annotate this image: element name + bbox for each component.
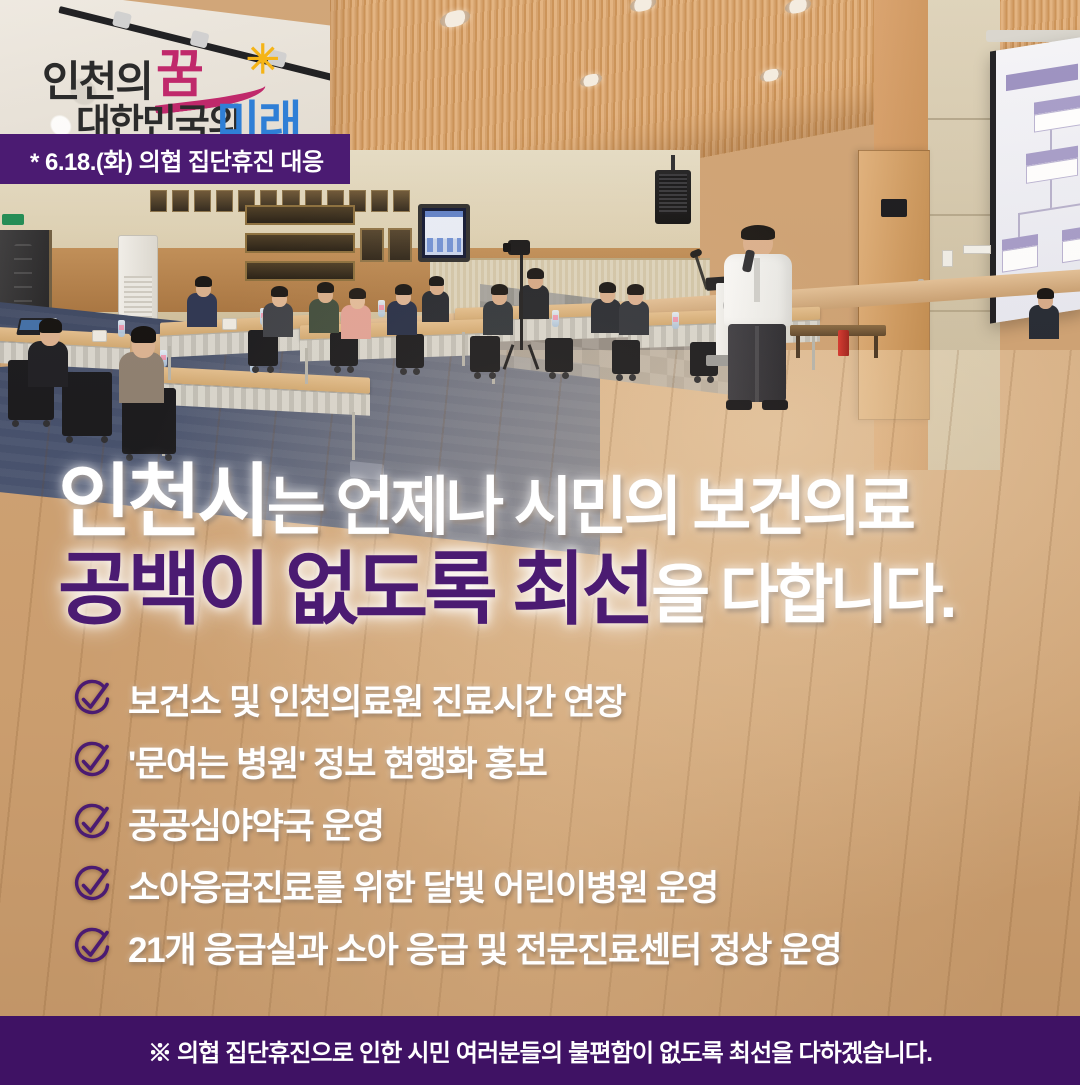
headline-subject: 인천시: [58, 457, 267, 546]
list-item-label: '문여는 병원' 정보 현행화 홍보: [128, 736, 547, 787]
slide-connector: [1050, 130, 1052, 150]
presenter-hair: [741, 225, 775, 240]
incheon-slogan-logo: 인천의 꿈 ✳ 대한민국의 미래: [34, 34, 314, 126]
ceiling-downlight: [630, 0, 656, 14]
wall-nameplate: [963, 245, 991, 254]
office-chair: [396, 334, 424, 368]
date-banner-text: * 6.18.(화) 의협 집단휴진 대응: [30, 142, 324, 177]
wall-certificate-frames: [360, 228, 412, 262]
video-camera: [508, 240, 530, 255]
light-switch: [942, 250, 953, 267]
slide-connector: [1050, 180, 1052, 208]
headline-emphasis: 공백이 없도록 최선: [58, 545, 651, 634]
slide-connector: [1018, 213, 1020, 237]
coat-placket: [754, 258, 760, 302]
headline-line-2-rest: 을 다합니다.: [651, 559, 953, 631]
headline-line-1: 인천시는 언제나 시민의 보건의료: [58, 463, 1048, 541]
list-item: '문여는 병원' 정보 현행화 홍보: [70, 730, 1050, 792]
list-item-label: 공공심야약국 운영: [128, 798, 384, 849]
camera-tripod: [520, 252, 523, 350]
circle-check-icon: [70, 739, 114, 783]
ceiling-downlight: [785, 0, 811, 16]
door-sign: [881, 199, 907, 217]
circle-check-icon: [70, 801, 114, 845]
list-item-label: 소아응급진료를 위한 달빛 어린이병원 운영: [128, 860, 718, 911]
circle-check-icon: [70, 925, 114, 969]
slide-box: [1062, 235, 1080, 263]
date-banner: * 6.18.(화) 의협 집단휴진 대응: [0, 134, 350, 184]
water-bottle: [672, 312, 679, 329]
presenter-shoe: [726, 400, 752, 410]
headline-line-1-rest: 는 언제나 시민의 보건의료: [267, 471, 912, 543]
water-bottle: [378, 300, 385, 317]
table-leg: [352, 412, 355, 460]
table-leg: [168, 346, 171, 380]
list-item-label: 보건소 및 인천의료원 진료시간 연장: [128, 674, 625, 725]
list-item-label: 21개 응급실과 소아 응급 및 전문진료센터 정상 운영: [128, 922, 841, 973]
office-chair: [545, 338, 573, 372]
measures-list: 보건소 및 인천의료원 진료시간 연장'문여는 병원' 정보 현행화 홍보공공심…: [70, 668, 1050, 978]
wall-outlet: [92, 330, 107, 342]
card-news-graphic: 인천의 꿈 ✳ 대한민국의 미래 * 6.18.(화) 의협 집단휴진 대응 인…: [0, 0, 1080, 1085]
logo-star-icon: ✳: [246, 40, 280, 80]
fire-extinguisher: [838, 330, 849, 356]
wall-award-frames: [245, 205, 355, 285]
list-item: 보건소 및 인천의료원 진료시간 연장: [70, 668, 1050, 730]
headline-block: 인천시는 언제나 시민의 보건의료 공백이 없도록 최선을 다합니다.: [58, 463, 1048, 630]
list-item: 21개 응급실과 소아 응급 및 전문진료센터 정상 운영: [70, 916, 1050, 978]
water-bottle: [552, 310, 559, 327]
circle-check-icon: [70, 677, 114, 721]
table-leg: [305, 348, 308, 384]
ceiling-speaker: [655, 170, 691, 224]
headline-line-2: 공백이 없도록 최선을 다합니다.: [58, 551, 1048, 629]
trouser-seam: [755, 326, 759, 402]
footer-notice-text: ※ 의협 집단휴진으로 인한 시민 여러분들의 불편함이 없도록 최선을 다하겠…: [148, 1033, 932, 1068]
wall-outlet: [222, 318, 237, 330]
slide-connector: [1018, 203, 1080, 215]
table-leg: [812, 336, 815, 370]
exit-sign: [2, 214, 24, 225]
list-item: 공공심야약국 운영: [70, 792, 1050, 854]
office-chair: [62, 372, 112, 436]
list-item: 소아응급진료를 위한 달빛 어린이병원 운영: [70, 854, 1050, 916]
ceiling-downlight: [760, 67, 782, 83]
water-bottle: [118, 320, 125, 337]
wall-monitor-display: [418, 204, 470, 262]
slide-box: [1002, 245, 1038, 273]
footer-notice-bar: ※ 의협 집단휴진으로 인한 시민 여러분들의 불편함이 없도록 최선을 다하겠…: [0, 1016, 1080, 1085]
ceiling-downlight: [440, 8, 470, 30]
office-chair: [612, 340, 640, 374]
slide-title-bar: [1006, 64, 1078, 91]
presenter-shoe: [762, 400, 788, 410]
office-chair: [470, 336, 500, 372]
table-leg: [462, 332, 465, 366]
circle-check-icon: [70, 863, 114, 907]
ceiling-downlight: [580, 72, 602, 88]
